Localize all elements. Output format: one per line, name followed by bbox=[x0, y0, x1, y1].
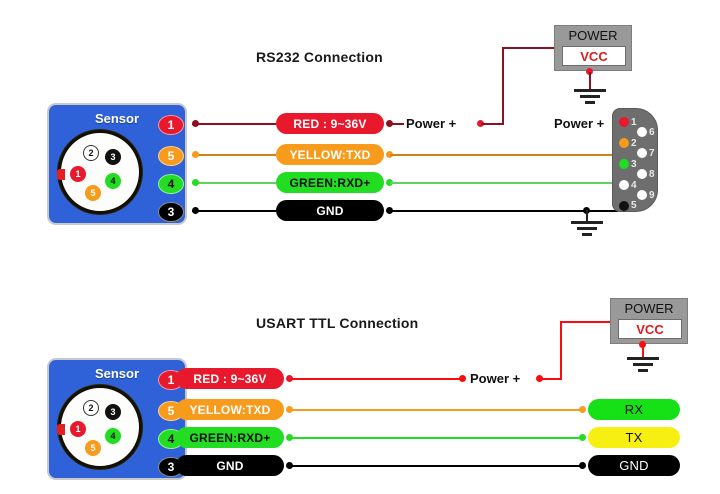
label-red-power-ttl: RED : 9~36V bbox=[176, 368, 284, 389]
wire-ttl-power-seg-h2 bbox=[560, 321, 610, 323]
power-supply-title-ttl: POWER bbox=[611, 301, 687, 316]
wire-dot-green-left bbox=[192, 179, 199, 186]
wire-green-to-db9 bbox=[390, 182, 612, 184]
wire-black-rs232-left bbox=[192, 210, 276, 212]
connector-keyway bbox=[57, 169, 65, 180]
power-ground-symbol-rs232 bbox=[574, 89, 606, 105]
db9-pin-7-number: 7 bbox=[649, 149, 655, 159]
db9-pin-2 bbox=[619, 138, 629, 148]
db9-pin-4 bbox=[619, 180, 629, 190]
label-green-rxd-rs232: GREEN:RXD+ bbox=[276, 172, 384, 193]
wire-red-rs232-left bbox=[192, 123, 276, 125]
connector-pin-4-ttl: 4 bbox=[105, 428, 121, 444]
db9-pin-4-number: 4 bbox=[631, 181, 637, 191]
connector-pin-2-ttl: 2 bbox=[83, 400, 99, 416]
power-plus-label-left-rs232: Power + bbox=[406, 116, 456, 131]
wire-yellow-to-db9 bbox=[390, 154, 612, 156]
wire-red-to-powerplus-ttl bbox=[290, 378, 462, 380]
ttl-section-title: USART TTL Connection bbox=[256, 315, 418, 331]
db9-pin-6-number: 6 bbox=[649, 128, 655, 138]
wire-dot-powerplus-a-ttl bbox=[459, 375, 466, 382]
db9-pin-3 bbox=[619, 159, 629, 169]
sensor-connector-face-ttl: 2 3 1 4 5 bbox=[58, 385, 142, 469]
power-supply-ttl: POWER VCC bbox=[610, 298, 688, 344]
wire-yellow-rs232-left bbox=[192, 154, 276, 156]
target-label-gnd: GND bbox=[588, 455, 680, 476]
wire-dot-rx bbox=[579, 406, 586, 413]
db9-pin-1 bbox=[619, 117, 629, 127]
db9-pin-5-number: 5 bbox=[631, 201, 637, 211]
power-supply-title: POWER bbox=[555, 28, 631, 43]
power-plus-label-ttl: Power + bbox=[470, 371, 520, 386]
label-yellow-txd-rs232: YELLOW:TXD bbox=[276, 144, 384, 165]
rs232-section-title: RS232 Connection bbox=[256, 49, 383, 65]
power-plus-label-right-rs232: Power + bbox=[554, 116, 604, 131]
db9-pin-9 bbox=[637, 190, 647, 200]
connector-pin-1: 1 bbox=[70, 166, 86, 182]
label-gnd-rs232: GND bbox=[276, 200, 384, 221]
sensor-pin-badge-4: 4 bbox=[158, 174, 184, 194]
sensor-connector-face: 2 3 1 4 5 bbox=[58, 130, 142, 214]
wire-dot-red-left bbox=[192, 120, 199, 127]
wire-dot-black-left bbox=[192, 207, 199, 214]
db9-connector: 1 2 3 4 5 6 7 8 9 bbox=[612, 108, 658, 212]
connector-pin-3-ttl: 3 bbox=[105, 404, 121, 420]
connector-keyway-ttl bbox=[57, 424, 65, 435]
sensor-pin-badge-5: 5 bbox=[158, 146, 184, 166]
wire-yellow-to-rx bbox=[290, 409, 582, 411]
connector-pin-1-ttl: 1 bbox=[70, 421, 86, 437]
db9-pin-5 bbox=[619, 201, 629, 211]
power-gnd-stem-rs232 bbox=[589, 72, 591, 90]
ground-symbol-rs232 bbox=[571, 221, 603, 237]
db9-pin-3-number: 3 bbox=[631, 160, 637, 170]
db9-pin-9-number: 9 bbox=[649, 191, 655, 201]
connector-pin-3: 3 bbox=[105, 149, 121, 165]
db9-pin-7 bbox=[637, 148, 647, 158]
wire-dot-gnd-ttl bbox=[579, 462, 586, 469]
power-supply-rs232: POWER VCC bbox=[554, 25, 632, 71]
db9-pin-8-number: 8 bbox=[649, 170, 655, 180]
wire-dot-yellow-left bbox=[192, 151, 199, 158]
wire-powerplus-seg-v bbox=[502, 47, 504, 125]
wire-green-to-tx bbox=[290, 437, 582, 439]
db9-pin-2-number: 2 bbox=[631, 139, 637, 149]
connector-pin-4: 4 bbox=[105, 173, 121, 189]
label-green-rxd-ttl: GREEN:RXD+ bbox=[176, 427, 284, 448]
sensor-pin-badge-3: 3 bbox=[158, 202, 184, 222]
connector-pin-5-ttl: 5 bbox=[85, 440, 101, 456]
wire-powerplus-seg-h1 bbox=[481, 123, 504, 125]
vcc-terminal: VCC bbox=[562, 46, 626, 66]
connector-pin-2: 2 bbox=[83, 145, 99, 161]
wiring-diagram-canvas: RS232 Connection Sensor 2 3 1 4 5 1 5 4 … bbox=[0, 0, 720, 494]
wire-powerplus-seg-h2 bbox=[502, 47, 554, 49]
sensor-module-ttl: Sensor 2 3 1 4 5 1 5 4 3 bbox=[47, 358, 187, 480]
target-label-tx: TX bbox=[588, 427, 680, 448]
target-label-rx: RX bbox=[588, 399, 680, 420]
wire-dot-tx bbox=[579, 434, 586, 441]
connector-pin-5: 5 bbox=[85, 185, 101, 201]
label-red-power-rs232: RED : 9~36V bbox=[276, 113, 384, 134]
power-ground-symbol-ttl bbox=[627, 357, 659, 373]
power-gnd-stem-ttl bbox=[642, 344, 644, 358]
wire-ttl-power-seg-h1 bbox=[540, 378, 562, 380]
wire-red-to-powerplus bbox=[390, 123, 404, 125]
label-gnd-ttl: GND bbox=[176, 455, 284, 476]
wire-black-to-gnd-ttl bbox=[290, 465, 582, 467]
label-yellow-txd-ttl: YELLOW:TXD bbox=[176, 399, 284, 420]
wire-green-rs232-left bbox=[192, 182, 276, 184]
db9-pin-6 bbox=[637, 127, 647, 137]
db9-pin-1-number: 1 bbox=[631, 118, 637, 128]
db9-pin-8 bbox=[637, 169, 647, 179]
vcc-terminal-ttl: VCC bbox=[618, 319, 682, 339]
wire-ttl-power-seg-v bbox=[560, 321, 562, 380]
sensor-pin-badge-1: 1 bbox=[158, 115, 184, 135]
sensor-module-rs232: Sensor 2 3 1 4 5 1 5 4 3 bbox=[47, 103, 187, 225]
